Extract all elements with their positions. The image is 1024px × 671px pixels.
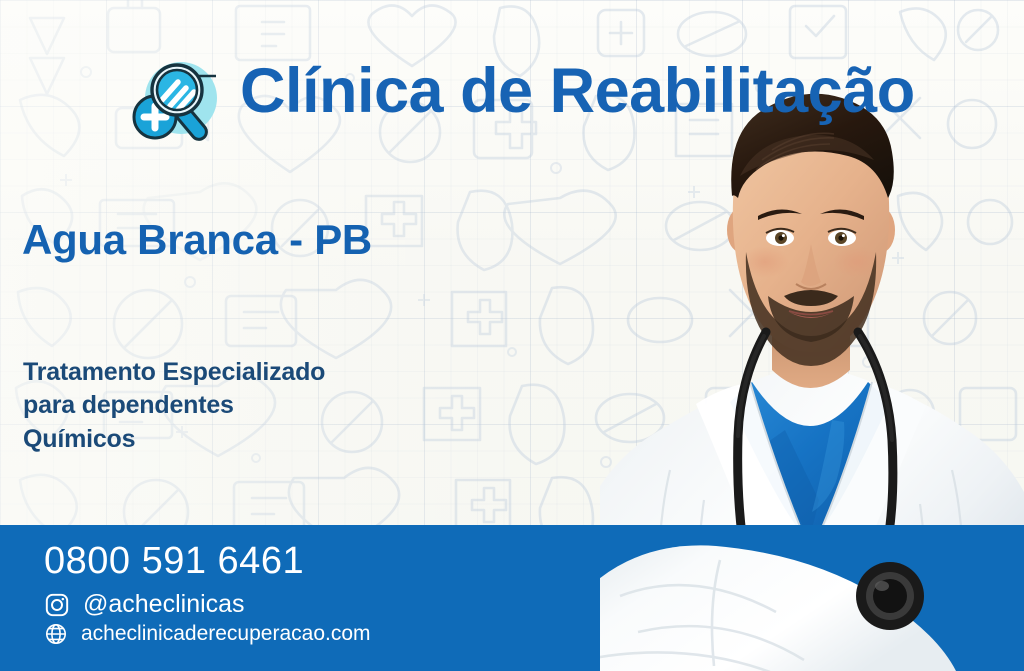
phone-number[interactable]: 0800 591 6461: [44, 540, 304, 583]
instagram-row[interactable]: @acheclinicas: [44, 590, 245, 619]
tagline-line-1: Tratamento Especializado: [23, 356, 325, 389]
footer-bar-extension: [600, 525, 1024, 671]
tagline-line-2: para dependentes: [23, 389, 325, 422]
instagram-handle: @acheclinicas: [83, 590, 245, 619]
location-label: Agua Branca - PB: [22, 216, 372, 264]
clinic-banner: Clínica de Reabilitação Agua Branca - PB…: [0, 0, 1024, 671]
globe-icon: [44, 622, 68, 646]
magnifier-lens: [152, 65, 202, 115]
instagram-icon: [44, 592, 70, 618]
tagline-block: Tratamento Especializado para dependente…: [23, 356, 325, 456]
website-row[interactable]: acheclinicaderecuperacao.com: [44, 622, 371, 646]
website-url: acheclinicaderecuperacao.com: [81, 622, 371, 646]
page-title: Clínica de Reabilitação: [240, 58, 915, 124]
tagline-line-3: Químicos: [23, 423, 325, 456]
clinic-logo: [124, 48, 228, 152]
